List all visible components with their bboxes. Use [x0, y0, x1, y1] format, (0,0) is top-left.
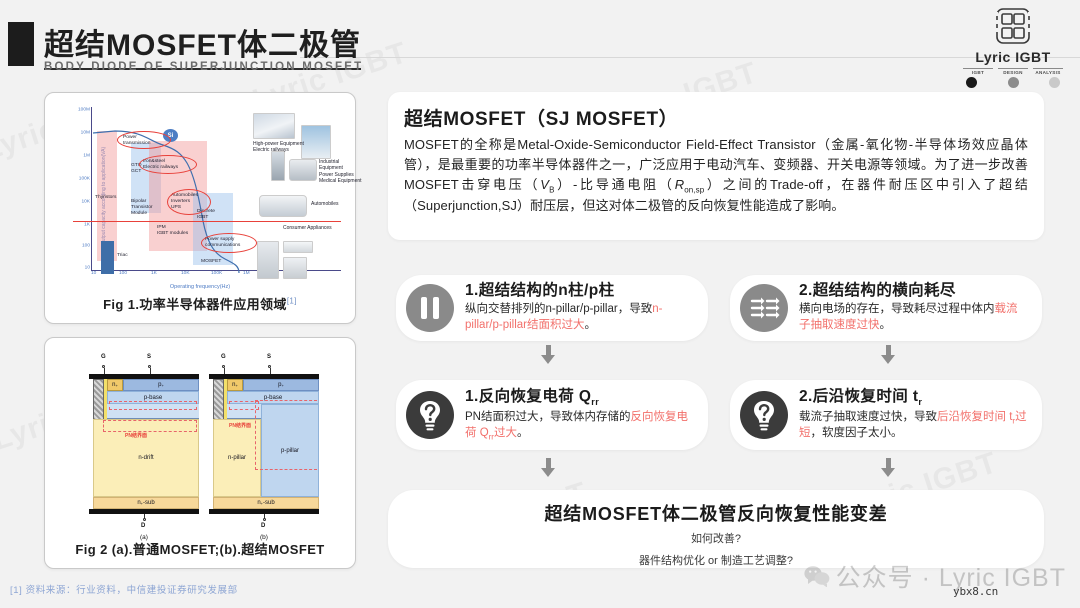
figure-2-caption: Fig 2 (a).普通MOSFET;(b).超结MOSFET	[45, 539, 355, 558]
x-tick: 10K	[181, 271, 190, 276]
device-cross-section-b: G S n+ p+ p-base n-pillar p-pillar PN结界面…	[209, 356, 319, 521]
chart1-ellipse-3	[167, 189, 211, 215]
intro-ron-subscript: on,sp	[684, 185, 704, 194]
chart1-label-triac: Triac	[117, 253, 128, 259]
card-body: 2.后沿恢复时间 tr 载流子抽取速度过快，导致后沿恢复时间 tr过短，软度因子…	[799, 388, 1028, 442]
logo-dot-1	[966, 77, 977, 88]
figure-1-caption: Fig 1.功率半导体器件应用领域[1]	[45, 294, 355, 313]
chart1-threshold-line	[73, 221, 341, 222]
card-desc: PN结面积过大，导致体内存储的反向恢复电荷 Qrr过大。	[465, 410, 694, 442]
terminal-g-b: G	[221, 354, 226, 360]
card-title-text: 1.反向恢复电荷 Q	[465, 388, 591, 405]
card-desc-hi-1: 后沿恢复时间 t	[937, 411, 1012, 423]
photo-aircon	[283, 241, 313, 253]
card-desc-plain-1: 纵向交替排列的n-pillar/p-pillar，导致	[465, 303, 652, 315]
terminal-dot-d-b	[263, 518, 266, 521]
card-title: 1.超结结构的n柱/p柱	[465, 282, 694, 301]
card-reverse-recovery-charge[interactable]: 1.反向恢复电荷 Qrr PN结面积过大，导致体内存储的反向恢复电荷 Qrr过大…	[396, 380, 708, 450]
card-title-subscript: rr	[591, 397, 599, 407]
x-tick: 100	[119, 271, 127, 276]
chart1-right-label-2: IndustrialEquipmentPower SuppliesMedical…	[319, 159, 362, 184]
slide-root: Lyric IGBT Lyric IGBT Lyric IGBT Lyric I…	[0, 0, 1080, 608]
card-desc-plain-2: 。	[880, 319, 892, 331]
photo-fridge	[257, 241, 279, 279]
layer-nsub-a: n+-sub	[93, 497, 199, 509]
chart1-label-thyristors: Thyristors	[95, 195, 116, 201]
intro-body: MOSFET的全称是Metal-Oxide-Semiconductor Fiel…	[404, 135, 1028, 216]
chart1-right-label-1: High-power EquipmentElectric railways	[253, 141, 304, 154]
card-desc-plain-1: PN结面积过大，导致体内存储的	[465, 411, 630, 423]
intro-title: 超结MOSFET（SJ MOSFET）	[404, 104, 1028, 131]
chart1-ellipse-4	[201, 233, 257, 253]
card-title: 2.后沿恢复时间 tr	[799, 388, 1028, 408]
terminal-dot-d-a	[143, 518, 146, 521]
card-desc-plain-2: 。	[585, 319, 597, 331]
card-desc-plain-1: 载流子抽取速度过快，导致	[799, 411, 937, 423]
wechat-icon	[804, 565, 830, 587]
header-accent-block	[8, 22, 34, 66]
card-title-subscript: r	[918, 397, 922, 407]
terminal-s-b: S	[267, 354, 271, 360]
terminal-s-a: S	[147, 354, 151, 360]
layer-pplus-b: p+	[243, 379, 319, 391]
photo-washer	[283, 257, 307, 279]
card-body: 2.超结结构的横向耗尽 横向电场的存在，导致耗尽过程中体内载流子抽取速度过快。	[799, 282, 1028, 334]
figure-1-caption-text: Fig 1.功率半导体器件应用领域	[103, 297, 287, 312]
pn-junction-dash-lower-a	[103, 420, 197, 432]
chart1-right-label-4: Consumer Appliances	[283, 225, 332, 231]
x-tick: 1K	[151, 271, 157, 276]
logo-tag-design: DESIGN	[998, 68, 1028, 75]
photo-car	[259, 195, 307, 217]
question-bulb-icon	[406, 391, 454, 439]
card-lateral-depletion[interactable]: 2.超结结构的横向耗尽 横向电场的存在，导致耗尽过程中体内载流子抽取速度过快。	[730, 275, 1042, 341]
terminal-d-b: D	[261, 523, 265, 529]
x-tick: 1M	[243, 271, 250, 276]
intro-body-part-2: ）-比导通电阻（	[555, 177, 675, 192]
card-desc: 纵向交替排列的n-pillar/p-pillar，导致n-pillar/p-pi…	[465, 302, 694, 334]
card-title: 2.超结结构的横向耗尽	[799, 282, 1028, 301]
conclusion-panel: 超结MOSFET体二极管反向恢复性能变差 如何改善? 器件结构优化 or 制造工…	[388, 490, 1044, 568]
photo-cabinet	[271, 151, 285, 181]
card-trailing-recovery-time[interactable]: 2.后沿恢复时间 tr 载流子抽取速度过快，导致后沿恢复时间 tr过短，软度因子…	[730, 380, 1042, 450]
layer-nplus-a: n+	[107, 379, 123, 391]
logo-name: Lyric IGBT	[960, 49, 1066, 65]
figure-1-panel: Output capacity according to application…	[44, 92, 356, 324]
layer-gate-poly-a	[93, 379, 104, 421]
wechat-account-footer: 公众号 · Lyric IGBT	[804, 558, 1066, 594]
layer-gate-poly-b	[213, 379, 224, 421]
card-body: 1.超结结构的n柱/p柱 纵向交替排列的n-pillar/p-pillar，导致…	[465, 282, 694, 334]
power-device-application-chart: Output capacity according to application…	[53, 101, 347, 291]
logo-tag-igbt: IGBT	[963, 68, 993, 75]
layer-npillar-b: n-pillar	[213, 419, 261, 497]
card-desc: 横向电场的存在，导致耗尽过程中体内载流子抽取速度过快。	[799, 302, 1028, 334]
terminal-d-a: D	[141, 523, 145, 529]
logo-tag-list: IGBT DESIGN ANALYSIS	[963, 68, 1063, 75]
card-desc-hi-2: 过大	[494, 427, 517, 439]
source-footnote: [1] 资料来源：行业资料，中信建投证券研究发展部	[10, 582, 238, 596]
card-desc-plain-1: 横向电场的存在，导致耗尽过程中体内	[799, 303, 995, 315]
card-n-pillar-p-pillar[interactable]: 1.超结结构的n柱/p柱 纵向交替排列的n-pillar/p-pillar，导致…	[396, 275, 708, 341]
logo-dot-3	[1049, 77, 1060, 88]
figure-1-ref: [1]	[287, 297, 297, 306]
card-title: 1.反向恢复电荷 Qrr	[465, 388, 694, 408]
card-desc: 载流子抽取速度过快，导致后沿恢复时间 tr过短，软度因子太小。	[799, 410, 1028, 442]
pn-junction-dash-vertical-b	[255, 400, 317, 470]
photo-windmill	[301, 125, 331, 159]
conclusion-question-1: 如何改善?	[388, 531, 1044, 548]
logo-grid-icon	[993, 6, 1033, 46]
x-tick: 10	[91, 271, 96, 276]
chart1-ellipse-1	[117, 131, 171, 149]
site-watermark: ybx8.cn	[953, 585, 998, 598]
chart1-label-mosfet: MOSFET	[201, 259, 221, 265]
terminal-g-a: G	[101, 354, 106, 360]
intro-ron-symbol: R	[675, 177, 685, 192]
card-body: 1.反向恢复电荷 Qrr PN结面积过大，导致体内存储的反向恢复电荷 Qrr过大…	[465, 388, 694, 442]
pn-junction-label-b: PN结界面	[229, 422, 251, 429]
brand-logo: Lyric IGBT IGBT DESIGN ANALYSIS	[960, 6, 1066, 88]
layer-nsub-b: n+-sub	[213, 497, 319, 509]
x-tick: 100K	[211, 271, 222, 276]
chart1-right-label-3: Automobiles	[311, 201, 339, 207]
wechat-label: 公众号 · Lyric IGBT	[836, 558, 1066, 594]
card-desc-plain-2: 。	[517, 427, 529, 439]
chart1-label-bipolar: BipolarTransistorModule	[131, 199, 153, 216]
page-subtitle: BODY DIODE OF SUPERJUNCTION MOSFET	[44, 61, 363, 73]
logo-tag-analysis: ANALYSIS	[1033, 68, 1063, 75]
transfer-lines-icon	[740, 284, 788, 332]
intro-panel: 超结MOSFET（SJ MOSFET） MOSFET的全称是Metal-Oxid…	[388, 92, 1044, 240]
pn-junction-label-a: PN结界面	[125, 432, 147, 439]
layer-nplus-b: n+	[227, 379, 243, 391]
pn-junction-dash-upper-a	[109, 401, 197, 410]
pause-icon	[406, 284, 454, 332]
question-bulb-icon	[740, 391, 788, 439]
card-desc-plain-2: ，软度因子太小。	[811, 427, 903, 439]
card-title-text: 2.后沿恢复时间 t	[799, 388, 918, 405]
chart1-label-ipm: IPMIGBT modules	[157, 225, 188, 237]
intro-vb-symbol: V	[540, 177, 549, 192]
photo-motor	[289, 159, 317, 181]
device-cross-section-a: G S n+ p+ p-base n-drift PN结界面	[89, 356, 199, 521]
chart1-ellipse-2	[139, 155, 197, 174]
photo-train	[253, 113, 295, 139]
figure-2-panel: G S n+ p+ p-base n-drift PN结界面	[44, 337, 356, 569]
layer-pplus-a: p+	[123, 379, 199, 391]
conclusion-title: 超结MOSFET体二极管反向恢复性能变差	[388, 500, 1044, 526]
logo-dot-row	[966, 77, 1060, 88]
logo-dot-2	[1008, 77, 1019, 88]
